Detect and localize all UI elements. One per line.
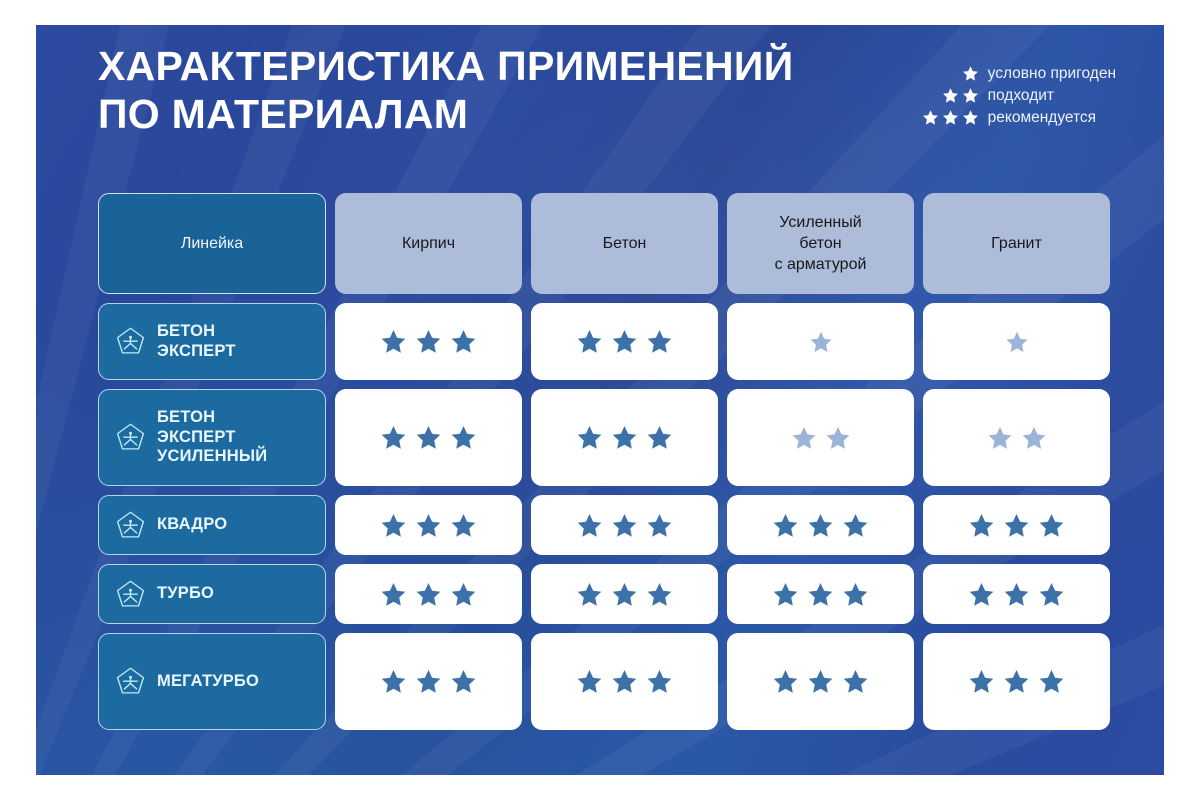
star-icon xyxy=(646,581,673,608)
star-icon xyxy=(1021,425,1047,451)
rating-cell xyxy=(335,303,522,380)
rating-cell xyxy=(531,633,718,730)
table-header-row: ЛинейкаКирпичБетонУсиленный бетон с арма… xyxy=(98,193,1102,294)
star-icon xyxy=(380,424,407,451)
star-icon xyxy=(415,581,442,608)
star-icon xyxy=(962,109,979,126)
star-icon xyxy=(1003,668,1030,695)
star-icon xyxy=(450,581,477,608)
rating-cell xyxy=(727,303,914,380)
rating-cell xyxy=(727,564,914,624)
star-icon xyxy=(450,668,477,695)
legend-item-1: условно пригоден xyxy=(913,65,1116,82)
star-icon xyxy=(611,668,638,695)
star-icon xyxy=(772,668,799,695)
star-icon xyxy=(1038,581,1065,608)
rating-cell xyxy=(923,495,1110,555)
product-label: БЕТОН ЭКСПЕРТ xyxy=(157,322,236,362)
star-icon xyxy=(450,424,477,451)
product-cell[interactable]: МЕГАТУРБО xyxy=(98,633,326,730)
table-row: МЕГАТУРБО xyxy=(98,633,1102,730)
rating-cell xyxy=(923,633,1110,730)
star-icon xyxy=(1038,512,1065,539)
star-icon xyxy=(842,581,869,608)
star-icon xyxy=(380,512,407,539)
star-icon xyxy=(450,512,477,539)
product-cell[interactable]: ТУРБО xyxy=(98,564,326,624)
table-row: ТУРБО xyxy=(98,564,1102,624)
star-icon xyxy=(415,328,442,355)
star-icon xyxy=(962,65,979,82)
star-icon xyxy=(415,424,442,451)
star-icon xyxy=(807,512,834,539)
product-label: ТУРБО xyxy=(157,584,214,604)
star-icon xyxy=(576,328,603,355)
star-icon xyxy=(576,512,603,539)
star-icon xyxy=(942,87,959,104)
legend-label: подходит xyxy=(988,88,1054,104)
header-cell-material-1: Кирпич xyxy=(335,193,522,294)
poster-header: ХАРАКТЕРИСТИКА ПРИМЕНЕНИЙ ПО МАТЕРИАЛАМ … xyxy=(36,25,1164,193)
star-icon xyxy=(576,424,603,451)
star-icon xyxy=(842,668,869,695)
page-title: ХАРАКТЕРИСТИКА ПРИМЕНЕНИЙ ПО МАТЕРИАЛАМ xyxy=(98,43,793,138)
rating-cell xyxy=(923,564,1110,624)
header-cell-material-2: Бетон xyxy=(531,193,718,294)
star-icon xyxy=(1038,668,1065,695)
star-icon xyxy=(646,424,673,451)
star-icon xyxy=(809,330,833,354)
product-cell[interactable]: КВАДРО xyxy=(98,495,326,555)
star-icon xyxy=(962,87,979,104)
legend-stars xyxy=(913,109,979,126)
product-cell[interactable]: БЕТОН ЭКСПЕРТ УСИЛЕННЫЙ xyxy=(98,389,326,486)
star-icon xyxy=(791,425,817,451)
star-icon xyxy=(1005,330,1029,354)
star-icon xyxy=(942,109,959,126)
shield-person-icon xyxy=(115,666,146,697)
star-icon xyxy=(807,581,834,608)
star-icon xyxy=(611,581,638,608)
star-icon xyxy=(576,668,603,695)
shield-person-icon xyxy=(115,579,146,610)
legend-stars xyxy=(913,65,979,82)
rating-cell xyxy=(531,564,718,624)
table-row: КВАДРО xyxy=(98,495,1102,555)
star-icon xyxy=(772,512,799,539)
star-icon xyxy=(611,512,638,539)
star-icon xyxy=(576,581,603,608)
legend-label: рекомендуется xyxy=(988,110,1096,126)
star-icon xyxy=(646,328,673,355)
star-icon xyxy=(968,581,995,608)
rating-cell xyxy=(335,564,522,624)
legend: условно пригоденподходитрекомендуется xyxy=(913,65,1116,126)
star-icon xyxy=(380,328,407,355)
star-icon xyxy=(1003,512,1030,539)
star-icon xyxy=(825,425,851,451)
product-cell[interactable]: БЕТОН ЭКСПЕРТ xyxy=(98,303,326,380)
rating-cell xyxy=(727,389,914,486)
star-icon xyxy=(772,581,799,608)
header-cell-lineup: Линейка xyxy=(98,193,326,294)
rating-cell xyxy=(335,633,522,730)
header-cell-material-4: Гранит xyxy=(923,193,1110,294)
legend-item-3: рекомендуется xyxy=(913,109,1116,126)
rating-cell xyxy=(531,303,718,380)
star-icon xyxy=(807,668,834,695)
rating-cell xyxy=(531,495,718,555)
rating-cell xyxy=(727,633,914,730)
star-icon xyxy=(415,512,442,539)
star-icon xyxy=(646,668,673,695)
shield-person-icon xyxy=(115,422,146,453)
table-row: БЕТОН ЭКСПЕРТ УСИЛЕННЫЙ xyxy=(98,389,1102,486)
product-label: БЕТОН ЭКСПЕРТ УСИЛЕННЫЙ xyxy=(157,408,267,467)
star-icon xyxy=(968,512,995,539)
header-cell-material-3: Усиленный бетон с арматурой xyxy=(727,193,914,294)
shield-person-icon xyxy=(115,326,146,357)
star-icon xyxy=(611,328,638,355)
star-icon xyxy=(450,328,477,355)
compatibility-table: ЛинейкаКирпичБетонУсиленный бетон с арма… xyxy=(98,193,1102,730)
rating-cell xyxy=(335,389,522,486)
rating-cell xyxy=(923,303,1110,380)
star-icon xyxy=(842,512,869,539)
rating-cell xyxy=(335,495,522,555)
legend-label: условно пригоден xyxy=(988,66,1116,82)
product-label: МЕГАТУРБО xyxy=(157,672,259,692)
star-icon xyxy=(987,425,1013,451)
product-label: КВАДРО xyxy=(157,515,227,535)
table-row: БЕТОН ЭКСПЕРТ xyxy=(98,303,1102,380)
star-icon xyxy=(380,668,407,695)
star-icon xyxy=(646,512,673,539)
poster-canvas: ХАРАКТЕРИСТИКА ПРИМЕНЕНИЙ ПО МАТЕРИАЛАМ … xyxy=(36,25,1164,775)
star-icon xyxy=(380,581,407,608)
star-icon xyxy=(1003,581,1030,608)
legend-item-2: подходит xyxy=(913,87,1116,104)
star-icon xyxy=(415,668,442,695)
star-icon xyxy=(611,424,638,451)
rating-cell xyxy=(923,389,1110,486)
rating-cell xyxy=(531,389,718,486)
rating-cell xyxy=(727,495,914,555)
shield-person-icon xyxy=(115,510,146,541)
star-icon xyxy=(922,109,939,126)
star-icon xyxy=(968,668,995,695)
legend-stars xyxy=(913,87,979,104)
